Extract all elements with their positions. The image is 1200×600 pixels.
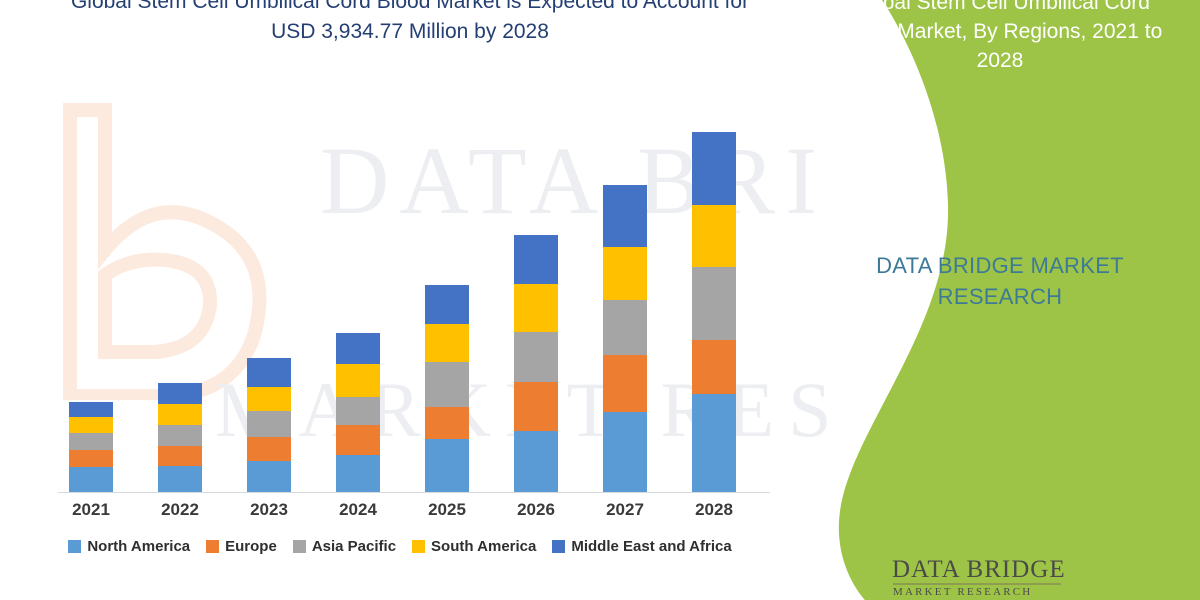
bar-segment[interactable] xyxy=(69,467,113,492)
legend-item-north-america[interactable]: North America xyxy=(68,538,190,555)
bar-segment[interactable] xyxy=(603,247,647,300)
bar-segment[interactable] xyxy=(247,437,291,461)
bar-segment[interactable] xyxy=(158,383,202,404)
x-axis-tick-2028: 2028 xyxy=(669,500,759,520)
bar-group[interactable] xyxy=(158,383,202,492)
x-axis-tick-2024: 2024 xyxy=(313,500,403,520)
plot-area xyxy=(40,100,770,493)
bar-group[interactable] xyxy=(603,185,647,492)
bar-segment[interactable] xyxy=(247,411,291,437)
data-bridge-logo: DATA BRIDGE MARKET RESEARCH xyxy=(830,552,1190,600)
x-axis-tick-2022: 2022 xyxy=(135,500,225,520)
bar-segment[interactable] xyxy=(158,466,202,492)
logo-subtitle: MARKET RESEARCH xyxy=(893,586,1032,598)
legend-swatch-icon xyxy=(68,540,81,553)
bar-segment[interactable] xyxy=(69,450,113,467)
bar-segment[interactable] xyxy=(336,333,380,364)
bar-segment[interactable] xyxy=(692,205,736,267)
x-axis-tick-labels: 20212022202320242025202620272028 xyxy=(40,500,770,526)
bar-segment[interactable] xyxy=(69,433,113,450)
bar-segment[interactable] xyxy=(425,324,469,362)
bar-segment[interactable] xyxy=(247,358,291,387)
legend-swatch-icon xyxy=(206,540,219,553)
bar-segment[interactable] xyxy=(336,455,380,492)
bar-segment[interactable] xyxy=(158,425,202,446)
bar-segment[interactable] xyxy=(603,412,647,492)
bar-segment[interactable] xyxy=(692,394,736,492)
legend-item-europe[interactable]: Europe xyxy=(206,538,277,555)
brand-panel: Global Stem Cell Umbilical Cord Blood Ma… xyxy=(770,0,1200,600)
bar-segment[interactable] xyxy=(692,267,736,340)
bar-group[interactable] xyxy=(692,132,736,492)
legend-label: Europe xyxy=(225,538,277,555)
x-axis-tick-2026: 2026 xyxy=(491,500,581,520)
bar-group[interactable] xyxy=(336,333,380,492)
bar-group[interactable] xyxy=(514,235,558,492)
bar-segment[interactable] xyxy=(247,461,291,492)
bar-segment[interactable] xyxy=(514,332,558,382)
legend-swatch-icon xyxy=(552,540,565,553)
bar-segment[interactable] xyxy=(425,407,469,439)
bar-segment[interactable] xyxy=(514,382,558,431)
bar-segment[interactable] xyxy=(603,355,647,412)
brand-name: DATA BRIDGE MARKET RESEARCH xyxy=(820,250,1180,312)
legend-label: South America xyxy=(431,538,536,555)
bar-segment[interactable] xyxy=(158,446,202,466)
x-axis-tick-2027: 2027 xyxy=(580,500,670,520)
bar-segment[interactable] xyxy=(336,364,380,397)
legend-item-south-america[interactable]: South America xyxy=(412,538,536,555)
bar-segment[interactable] xyxy=(247,387,291,411)
bar-segment[interactable] xyxy=(425,362,469,407)
bar-segment[interactable] xyxy=(69,417,113,433)
bar-segment[interactable] xyxy=(336,397,380,425)
x-axis-tick-2021: 2021 xyxy=(46,500,136,520)
bar-segment[interactable] xyxy=(514,431,558,492)
chart-panel: DATA BRIDGE MARKET RESEARCH Global Stem … xyxy=(0,0,830,600)
bar-segment[interactable] xyxy=(692,340,736,394)
logo-title: DATA BRIDGE xyxy=(892,556,1066,584)
x-axis-tick-2023: 2023 xyxy=(224,500,314,520)
bar-segment[interactable] xyxy=(603,300,647,355)
bar-segment[interactable] xyxy=(425,439,469,492)
bar-segment[interactable] xyxy=(158,404,202,425)
legend-label: North America xyxy=(87,538,190,555)
bar-segment[interactable] xyxy=(514,284,558,332)
bar-segment[interactable] xyxy=(69,402,113,417)
chart-legend: North AmericaEuropeAsia PacificSouth Ame… xyxy=(0,538,800,555)
bar-group[interactable] xyxy=(247,358,291,492)
legend-swatch-icon xyxy=(412,540,425,553)
logo-divider xyxy=(893,583,1061,585)
x-axis-tick-2025: 2025 xyxy=(402,500,492,520)
legend-item-asia-pacific[interactable]: Asia Pacific xyxy=(293,538,396,555)
legend-item-middle-east-and-africa[interactable]: Middle East and Africa xyxy=(552,538,731,555)
bar-group[interactable] xyxy=(425,285,469,492)
chart-title: Global Stem Cell Umbilical Cord Blood Ma… xyxy=(60,0,760,47)
bar-segment[interactable] xyxy=(603,185,647,247)
bar-segment[interactable] xyxy=(425,285,469,324)
legend-label: Middle East and Africa xyxy=(571,538,731,555)
bar-segment[interactable] xyxy=(514,235,558,284)
brand-panel-title: Global Stem Cell Umbilical Cord Blood Ma… xyxy=(825,0,1175,75)
bar-segment[interactable] xyxy=(336,425,380,455)
x-axis-line xyxy=(58,492,770,493)
legend-swatch-icon xyxy=(293,540,306,553)
legend-label: Asia Pacific xyxy=(312,538,396,555)
bar-segment[interactable] xyxy=(692,132,736,205)
bar-group[interactable] xyxy=(69,402,113,492)
